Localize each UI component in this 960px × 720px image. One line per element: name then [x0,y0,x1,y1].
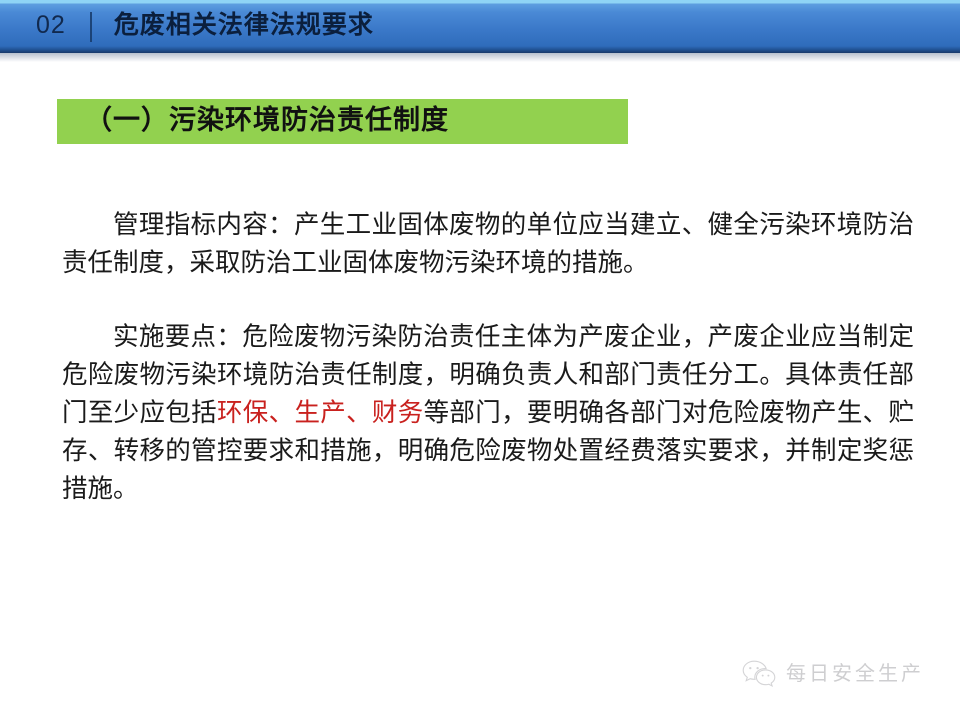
highlighted-departments: 环保、生产、财务 [217,399,424,427]
section-heading-label: （一）污染环境防治责任制度 [85,107,449,137]
paragraph-implementation-points: 实施要点：危险废物污染防治责任主体为产废企业，产废企业应当制定危险废物污染环境防… [62,318,914,508]
header-title: 危废相关法律法规要求 [114,13,374,40]
paragraph-management-indicator: 管理指标内容：产生工业固体废物的单位应当建立、健全污染环境防治责任制度，采取防治… [62,206,914,282]
vertical-divider-icon [90,12,92,42]
body-copy: 管理指标内容：产生工业固体废物的单位应当建立、健全污染环境防治责任制度，采取防治… [62,206,914,508]
section-heading-box: （一）污染环境防治责任制度 [57,99,628,144]
header-content: 02 危废相关法律法规要求 [0,0,374,53]
slide-canvas: 02 危废相关法律法规要求 （一）污染环境防治责任制度 管理指标内容：产生工业固… [0,0,960,720]
paragraph-run: 管理指标内容：产生工业固体废物的单位应当建立、健全污染环境防治责任制度，采取防治… [62,211,914,277]
header-drop-shadow [0,53,960,62]
watermark: 每日安全生产 [742,660,924,688]
watermark-label: 每日安全生产 [786,664,924,684]
section-number: 02 [36,13,66,40]
wechat-icon [742,660,776,688]
